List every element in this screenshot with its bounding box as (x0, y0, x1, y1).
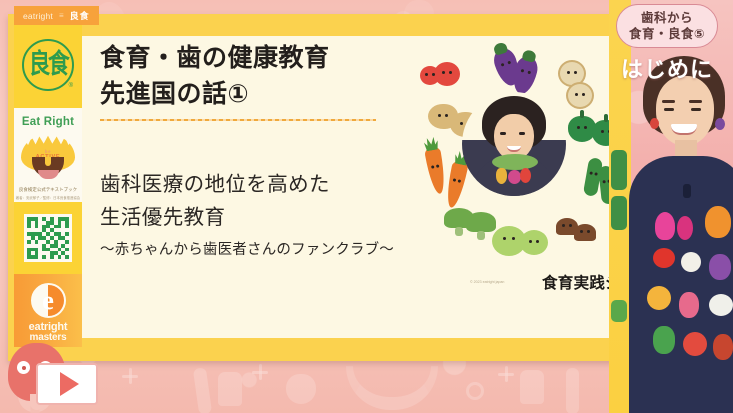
sparkle-motif-icon (252, 364, 268, 380)
lei-vegetable-icon (520, 168, 531, 183)
plush-vegetable-icon (705, 206, 731, 238)
tab-brand-label: eatright (23, 11, 53, 21)
plush-vegetable-icon (683, 332, 707, 356)
lei-vegetable-icon (508, 170, 521, 184)
section-subtitle: はじめに (603, 52, 731, 84)
tongue-icon (38, 170, 59, 179)
eatright-e-icon: e (31, 283, 66, 318)
qr-code-icon[interactable] (24, 214, 72, 262)
onion-character-icon (566, 82, 594, 109)
toothbrush-motif-icon (193, 367, 212, 413)
plush-vegetable-icon (679, 292, 699, 318)
body-line-2: 生活優先教育 (100, 201, 450, 234)
menu-icon: ≡ (59, 11, 64, 20)
ring-motif-icon (466, 382, 484, 400)
plush-vegetable-icon (709, 294, 733, 316)
registered-mark: ® (69, 83, 73, 89)
headline-underline (100, 119, 376, 121)
presenter-face (656, 76, 714, 146)
tooth-eye-left (17, 361, 30, 374)
sidebar-qr-panel[interactable] (14, 202, 82, 274)
left-sidebar: 良食 ® Eat Right be ACTIVE 良食検定公式テキストブック 著… (14, 22, 82, 347)
presenter-figure (623, 56, 733, 413)
lapel-mic-icon (683, 184, 691, 198)
sparkle-motif-icon (498, 366, 514, 382)
plush-vegetable-icon (709, 254, 731, 280)
plush-vegetable-icon (653, 248, 675, 268)
mushroom-character-icon (574, 224, 596, 241)
play-button[interactable] (36, 363, 98, 405)
presenter-top (629, 156, 733, 413)
sidebar-logo-panel: 良食 ® (14, 22, 82, 108)
book-caption-secondary: 著者：安武郁子／監修：日本良食推進協会 (14, 195, 82, 200)
eatright-sub-label: masters (30, 332, 67, 343)
plush-vegetable-icon (677, 216, 693, 240)
book-title-label: Eat Right (22, 116, 74, 128)
sidebar-eatright-logo-panel: e eatright masters (14, 274, 82, 347)
headline-line-1: 食育・歯の健康教育 (100, 40, 430, 76)
ryoshoku-logo-icon: 良食 ® (22, 39, 74, 91)
body-line-1: 歯科医療の地位を高めた (100, 168, 450, 201)
plush-vegetable-icon (681, 252, 701, 272)
earring-right-icon (715, 118, 725, 130)
apple-motif-icon (286, 374, 316, 404)
presenter-brow-left (662, 100, 675, 103)
slide-body: 歯科医療の地位を高めた 生活優先教育 〜赤ちゃんから歯医者さんのファンクラブ〜 (100, 168, 450, 259)
screen-root: eatright ≡ 良食 良食 ® Eat Right be ACTIVE (0, 0, 733, 413)
eatright-e-glyph: e (42, 288, 54, 314)
eatright-tab[interactable]: eatright ≡ 良食 (14, 6, 99, 25)
badge-line-2: 食育・良食⑤ (629, 26, 705, 42)
plush-vegetable-icon (655, 212, 675, 240)
presenter-eye-left (664, 108, 674, 111)
photo-eye-left (500, 132, 506, 135)
toothpaste-motif-icon (218, 372, 242, 406)
tab-japanese-label: 良食 (70, 9, 90, 22)
headline-line-2: 先進国の話① (100, 76, 430, 112)
photo-eye-right (519, 132, 525, 135)
book-cover-art: be ACTIVE (19, 135, 77, 179)
book-caption-label: 良食検定公式テキストブック (14, 187, 82, 193)
chapter-badge-group: 歯科から 食育・良食⑤ はじめに (603, 4, 731, 84)
chapter-badge: 歯科から 食育・良食⑤ (616, 4, 718, 48)
plush-vegetable-icon (647, 286, 671, 310)
badge-line-1: 歯科から (629, 10, 705, 26)
body-subtitle: 〜赤ちゃんから歯医者さんのファンクラブ〜 (100, 238, 450, 259)
sidebar-book-cover[interactable]: Eat Right be ACTIVE 良食検定公式テキストブック 著者：安武郁… (14, 108, 82, 202)
jaw-motif-icon (346, 366, 438, 410)
lei-vegetable-icon (496, 168, 507, 184)
speaker-photo (462, 92, 566, 196)
broccoli-character-icon (466, 212, 496, 232)
toothbrush-motif-icon (566, 368, 579, 413)
logo-kanji-label: 良食 (29, 54, 67, 77)
toothpaste-motif-icon (520, 370, 544, 404)
plush-vegetable-icon (653, 326, 675, 354)
plush-vegetable-icon (713, 334, 733, 360)
sparkle-motif-icon (122, 368, 138, 384)
uvula-icon (45, 157, 51, 166)
presenter-brow-right (689, 100, 702, 103)
slide-headline: 食育・歯の健康教育 先進国の話① (100, 40, 430, 121)
play-icon (60, 372, 79, 396)
earring-left-icon (650, 118, 659, 129)
presenter-eye-right (691, 108, 701, 111)
